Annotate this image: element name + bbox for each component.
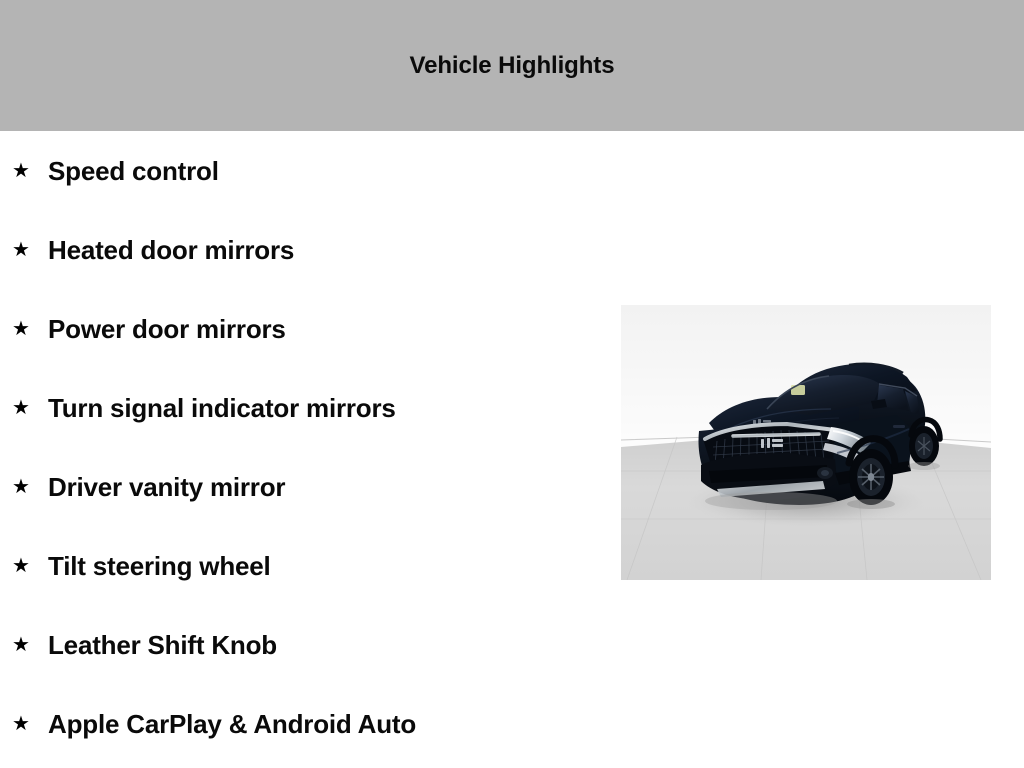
- highlights-list: ★Speed control★Heated door mirrors★Power…: [0, 131, 600, 763]
- star-icon: ★: [12, 634, 32, 654]
- highlight-item: ★Heated door mirrors: [0, 210, 600, 289]
- star-icon: ★: [12, 160, 32, 180]
- header-bar: Vehicle Highlights: [0, 0, 1024, 131]
- star-icon: ★: [12, 555, 32, 575]
- vehicle-photo-image: [621, 305, 991, 580]
- star-icon: ★: [12, 713, 32, 733]
- highlight-item: ★Turn signal indicator mirrors: [0, 368, 600, 447]
- highlight-label: Turn signal indicator mirrors: [48, 393, 600, 423]
- highlight-item: ★Power door mirrors: [0, 289, 600, 368]
- highlight-label: Leather Shift Knob: [48, 630, 600, 660]
- vehicle-highlights-page: Vehicle Highlights ★Speed control★Heated…: [0, 0, 1024, 768]
- vehicle-photo: [621, 305, 991, 580]
- highlight-label: Speed control: [48, 156, 600, 186]
- highlight-item: ★Speed control: [0, 131, 600, 210]
- highlight-item: ★Tilt steering wheel: [0, 526, 600, 605]
- highlight-label: Power door mirrors: [48, 314, 600, 344]
- star-icon: ★: [12, 476, 32, 496]
- highlight-item: ★Driver vanity mirror: [0, 447, 600, 526]
- highlight-item: ★Apple CarPlay & Android Auto: [0, 684, 600, 763]
- highlight-label: Driver vanity mirror: [48, 472, 600, 502]
- highlight-item: ★Leather Shift Knob: [0, 605, 600, 684]
- star-icon: ★: [12, 239, 32, 259]
- star-icon: ★: [12, 397, 32, 417]
- highlight-label: Apple CarPlay & Android Auto: [48, 709, 600, 739]
- highlight-label: Tilt steering wheel: [48, 551, 600, 581]
- highlight-label: Heated door mirrors: [48, 235, 600, 265]
- star-icon: ★: [12, 318, 32, 338]
- page-title: Vehicle Highlights: [0, 52, 1024, 80]
